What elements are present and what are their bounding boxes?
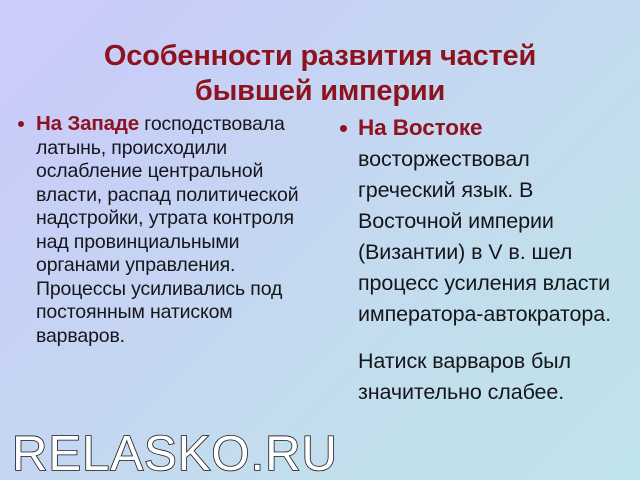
bullet-lead-east: На Востоке [358, 115, 482, 140]
bullet-item-east: На Востоке восторжествовал греческий язы… [330, 112, 630, 408]
column-west: На Западе господствовала латынь, происхо… [10, 112, 322, 348]
bullet-dot-icon [340, 125, 347, 132]
bullet-item-west: На Западе господствовала латынь, происхо… [10, 112, 322, 348]
bullet-lead-west: На Западе [36, 112, 139, 135]
bullet-dot-icon [18, 121, 24, 127]
watermark: RELASKO.RU [12, 428, 338, 480]
page-title-line-1: Особенности развития частей [0, 39, 640, 74]
column-east: На Востоке восторжествовал греческий язы… [330, 112, 630, 408]
page-title: Особенности развития частей бывшей импер… [0, 39, 640, 109]
bullet-text-east-2: Натиск варваров был значительно слабее. [358, 346, 630, 408]
bullet-text-west: На Западе господствовала латынь, происхо… [36, 112, 322, 348]
content-columns: На Западе господствовала латынь, происхо… [0, 112, 640, 442]
bullet-text-east-1: На Востоке восторжествовал греческий язы… [358, 112, 630, 330]
page-title-line-2: бывшей империи [0, 74, 640, 109]
bullet-body-east: восторжествовал греческий язык. В Восточ… [358, 147, 611, 326]
slide-canvas: Особенности развития частей бывшей импер… [0, 0, 640, 480]
bullet-body-west: господствовала латынь, происходили ослаб… [36, 113, 298, 347]
